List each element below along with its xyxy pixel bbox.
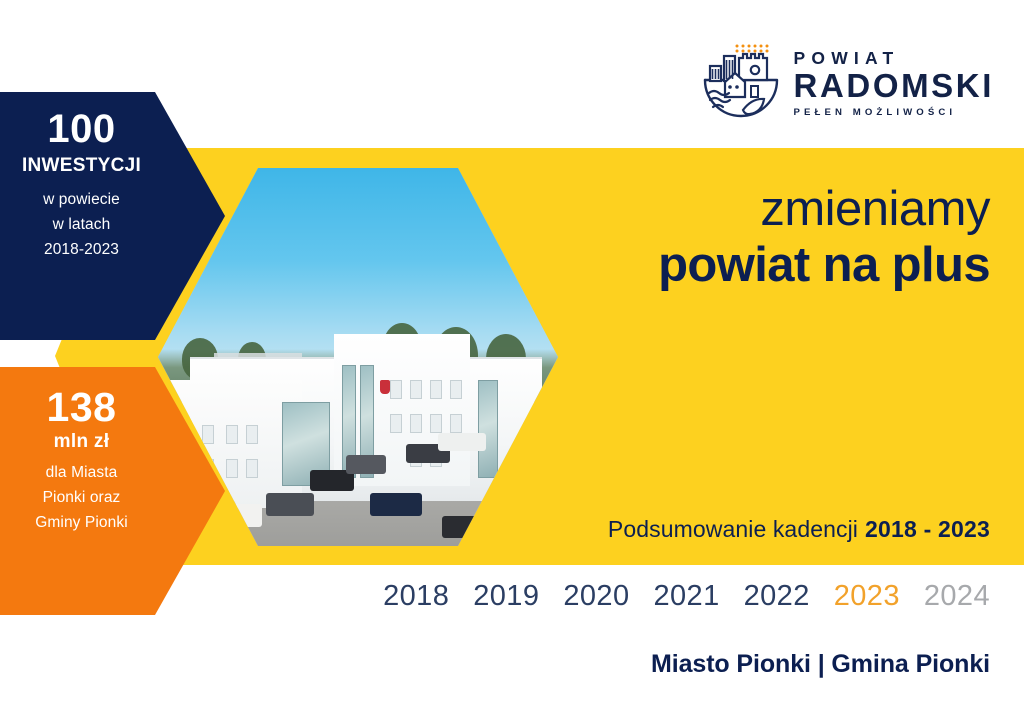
stat-unit-funding: mln zł: [8, 431, 155, 454]
stat-funding-line-3: Gminy Pionki: [8, 510, 155, 535]
powiat-radomski-logo: POWIAT RADOMSKI PEŁEN MOŻLIWOŚCI: [699, 42, 994, 126]
photo-window: [410, 380, 422, 399]
timeline-year-2022[interactable]: 2022: [744, 582, 810, 611]
photo-car: [370, 493, 422, 516]
photo-window: [226, 459, 238, 478]
logo-line-powiat: POWIAT: [794, 49, 994, 69]
photo-window: [246, 425, 258, 444]
year-timeline: 2018 2019 2020 2021 2022 2023 2024: [383, 582, 990, 611]
stat-number-funding: 138: [8, 385, 155, 429]
stat-funding-line-2: Pionki oraz: [8, 485, 155, 510]
timeline-year-2024[interactable]: 2024: [924, 582, 990, 611]
timeline-year-2018[interactable]: 2018: [383, 582, 449, 611]
photo-glass-facade: [478, 380, 498, 478]
photo-window: [390, 414, 402, 433]
stat-number-investments: 100: [8, 108, 155, 151]
term-summary-range: 2018 - 2023: [865, 516, 990, 542]
footer-municipalities: Miasto Pionki | Gmina Pionki: [651, 650, 990, 679]
poster-canvas: POWIAT RADOMSKI PEŁEN MOŻLIWOŚCI 100 INW…: [0, 0, 1024, 724]
stat-detail-line-2: w latach: [8, 212, 155, 237]
timeline-year-2019[interactable]: 2019: [473, 582, 539, 611]
photo-car: [438, 433, 486, 452]
photo-window: [430, 380, 442, 399]
stat-funding-line-1: dla Miasta: [8, 460, 155, 485]
photo-window: [202, 425, 214, 444]
photo-car: [346, 455, 386, 474]
photo-window: [450, 414, 462, 433]
logo-tagline: PEŁEN MOŻLIWOŚCI: [794, 107, 994, 119]
photo-window: [390, 380, 402, 399]
powiat-radomski-emblem-icon: [699, 42, 783, 126]
timeline-year-2023[interactable]: 2023: [834, 582, 900, 611]
photo-coat-of-arms: [380, 380, 390, 394]
term-summary: Podsumowanie kadencji2018 - 2023: [608, 516, 990, 543]
photo-window: [226, 425, 238, 444]
photo-window: [450, 380, 462, 399]
photo-car: [266, 493, 314, 516]
timeline-year-2021[interactable]: 2021: [654, 582, 720, 611]
timeline-year-2020[interactable]: 2020: [563, 582, 629, 611]
term-summary-label: Podsumowanie kadencji: [608, 516, 858, 542]
headline-block: zmieniamy powiat na plus: [658, 184, 990, 294]
photo-window: [410, 414, 422, 433]
photo-window: [430, 414, 442, 433]
stat-detail-line-1: w powiecie: [8, 187, 155, 212]
stat-unit-investments: INWESTYCJI: [8, 155, 155, 178]
stat-detail-line-3: 2018-2023: [8, 237, 155, 262]
logo-line-radomski: RADOMSKI: [794, 69, 994, 103]
headline-line-light: zmieniamy: [658, 184, 990, 236]
photo-window: [246, 459, 258, 478]
logo-wordmark: POWIAT RADOMSKI PEŁEN MOŻLIWOŚCI: [794, 49, 994, 118]
headline-line-bold: powiat na plus: [658, 238, 990, 294]
